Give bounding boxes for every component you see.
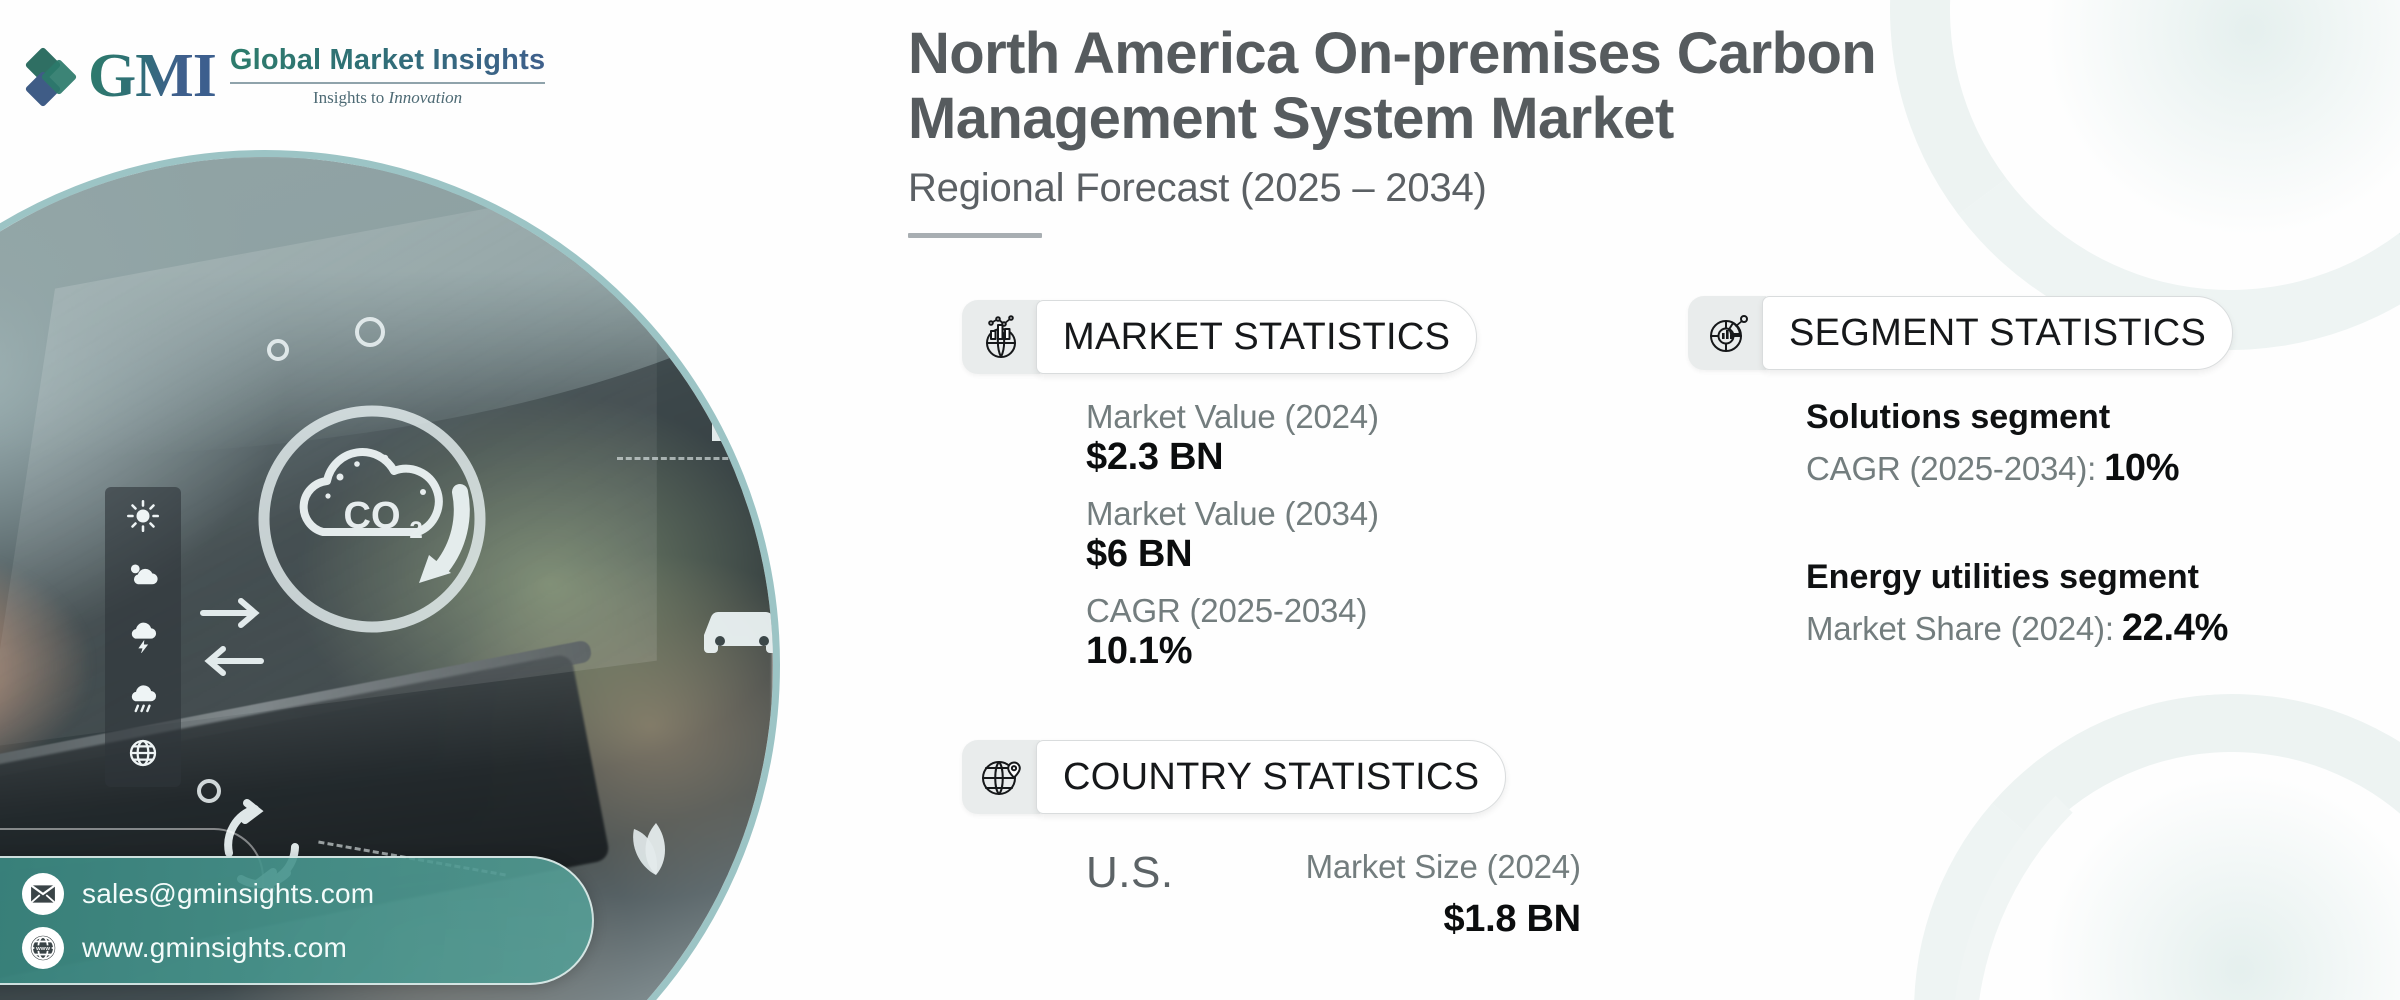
contact-panel: sales@gminsights.com WWW www.gminsights.… (0, 856, 594, 985)
page-title: North America On-premises Carbon Managem… (908, 22, 2068, 152)
logo-wordmark: Global Market Insights Insights to Innov… (230, 44, 545, 108)
node-dot (197, 779, 221, 803)
page-subtitle: Regional Forecast (2025 – 2034) (908, 166, 2068, 211)
logo-tagline-prefix: Insights to (313, 88, 389, 107)
globe-bar-chart-icon (962, 300, 1040, 374)
envelope-icon (22, 873, 64, 915)
svg-text:2: 2 (409, 517, 422, 544)
decorative-ring-bottom-right-2 (1952, 692, 2400, 1000)
market-statistics-label: MARKET STATISTICS (1063, 316, 1450, 359)
logo-company-name: Global Market Insights (230, 44, 545, 77)
segment-1-metric-value: 10% (2104, 447, 2179, 490)
sun-icon (126, 499, 160, 538)
segment-2-metric-value: 22.4% (2122, 607, 2228, 650)
market-statistics-badge[interactable]: MARKET STATISTICS (962, 300, 1477, 374)
decorative-ring-bottom-right-1 (1893, 673, 2400, 1000)
market-statistics-pill[interactable]: MARKET STATISTICS (1036, 300, 1477, 374)
logo-tagline: Insights to Innovation (230, 88, 545, 108)
market-value-2034-value: $6 BN (1086, 533, 1379, 576)
node-dot (267, 339, 289, 361)
headline-block: North America On-premises Carbon Managem… (908, 22, 2068, 238)
connector-dash (617, 457, 737, 460)
market-value-2024-value: $2.3 BN (1086, 436, 1379, 479)
country-statistics-values: U.S. Market Size (2024) $1.8 BN (1086, 848, 1581, 941)
cloud-sun-icon (125, 559, 161, 594)
co2-cycle-icon: CO 2 (245, 392, 499, 646)
logo-mark: GMI (88, 47, 216, 106)
segment-statistics-label: SEGMENT STATISTICS (1789, 312, 2206, 355)
logo-divider (230, 82, 545, 84)
country-statistics-label: COUNTRY STATISTICS (1063, 756, 1479, 799)
decorative-glow-bottom-right (2040, 770, 2400, 1000)
www-globe-icon: WWW (22, 927, 64, 969)
infographic-canvas: CO 2 (0, 0, 2400, 1000)
gmi-logo[interactable]: GMI Global Market Insights Insights to I… (30, 42, 545, 110)
contact-email: sales@gminsights.com (82, 878, 374, 910)
market-cagr-value: 10.1% (1086, 630, 1379, 673)
segment-statistics-pill[interactable]: SEGMENT STATISTICS (1762, 296, 2233, 370)
car-icon (692, 587, 780, 667)
country-metric-label: Market Size (2024) (1306, 848, 1581, 886)
segment-1-title: Solutions segment (1806, 398, 2228, 437)
country-statistics-badge[interactable]: COUNTRY STATISTICS (962, 740, 1506, 814)
factory-icon (702, 357, 780, 447)
logo-diamonds-icon (30, 42, 74, 110)
globe-grid-icon (127, 737, 159, 774)
segment-2-metric: Market Share (2024): 22.4% (1806, 607, 2228, 650)
svg-text:CO: CO (344, 495, 401, 537)
weather-icon-strip (105, 487, 181, 787)
svg-text:WWW: WWW (36, 946, 50, 952)
headline-underline (908, 233, 1042, 238)
segment-2-title: Energy utilities segment (1806, 558, 2228, 597)
globe-pin-icon (962, 740, 1040, 814)
donut-chart-icon (1688, 296, 1766, 370)
cloud-lightning-icon (125, 619, 161, 658)
decorative-glow-top-right (2040, 0, 2400, 240)
market-value-2034-label: Market Value (2034) (1086, 495, 1379, 533)
segment-statistics-values: Solutions segment CAGR (2025-2034): 10% … (1806, 398, 2228, 650)
contact-website-row[interactable]: WWW www.gminsights.com (22, 927, 592, 969)
cloud-rain-icon (125, 683, 161, 722)
node-dot (355, 317, 385, 347)
market-statistics-values: Market Value (2024) $2.3 BN Market Value… (1086, 398, 1379, 673)
segment-statistics-badge[interactable]: SEGMENT STATISTICS (1688, 296, 2233, 370)
market-cagr-label: CAGR (2025-2034) (1086, 592, 1379, 630)
contact-email-row[interactable]: sales@gminsights.com (22, 873, 592, 915)
segment-2-metric-label: Market Share (2024): (1806, 610, 2114, 648)
contact-website: www.gminsights.com (82, 932, 347, 964)
country-metric-value: $1.8 BN (1306, 898, 1581, 941)
country-name: U.S. (1086, 848, 1174, 898)
country-metric: Market Size (2024) $1.8 BN (1306, 848, 1581, 941)
segment-1-metric: CAGR (2025-2034): 10% (1806, 447, 2228, 490)
exchange-arrows-icon (197, 577, 267, 697)
leaf-icon (612, 797, 702, 887)
market-value-2024-label: Market Value (2024) (1086, 398, 1379, 436)
segment-1-metric-label: CAGR (2025-2034): (1806, 450, 2096, 488)
country-statistics-pill[interactable]: COUNTRY STATISTICS (1036, 740, 1506, 814)
logo-tagline-emphasis: Innovation (389, 88, 463, 107)
